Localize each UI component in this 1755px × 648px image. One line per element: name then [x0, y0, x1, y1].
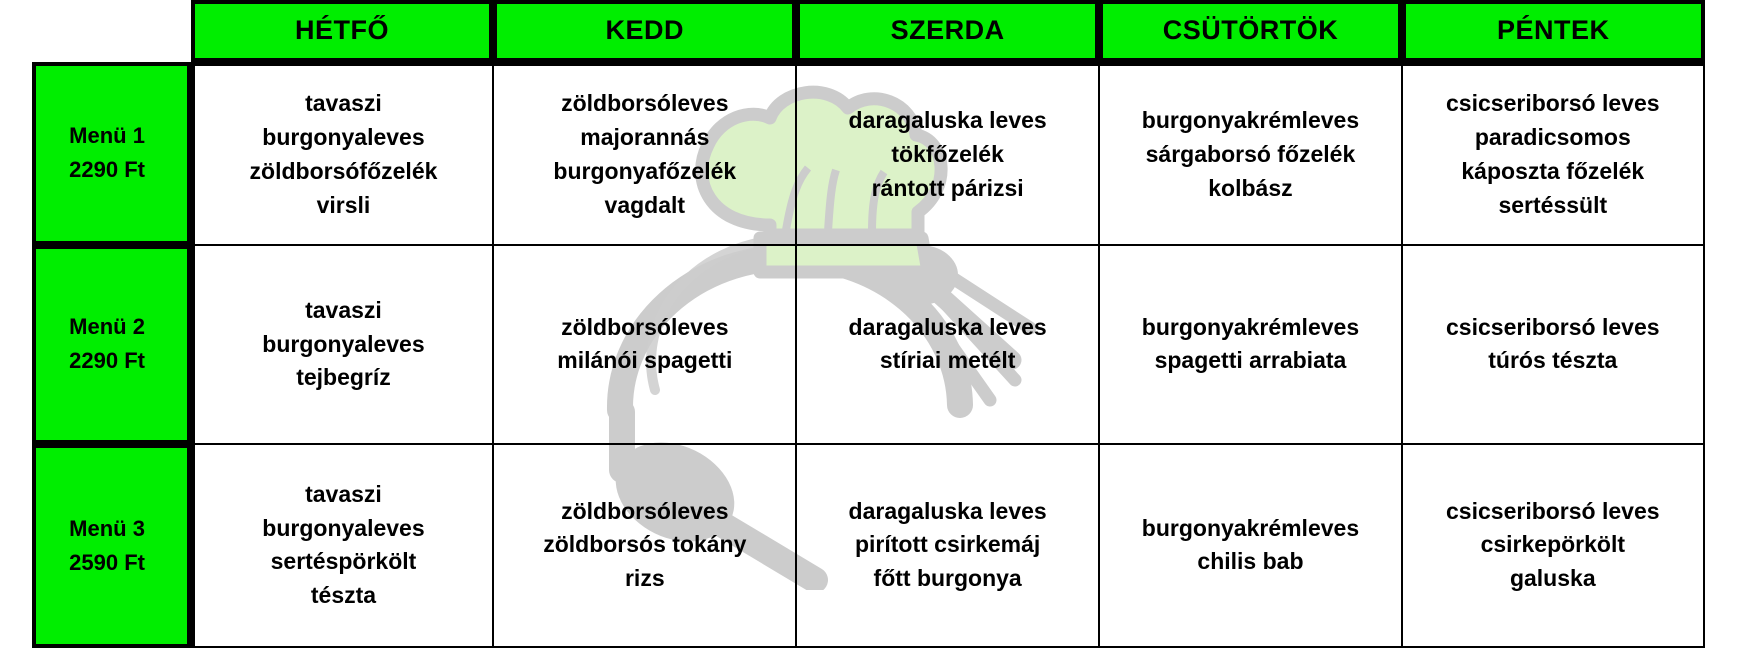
day-header-friday: PÉNTEK — [1402, 0, 1705, 62]
dish-line: tavaszi — [199, 294, 489, 328]
dish-cell-monday: tavasziburgonyalevessertéspörkölttészta — [191, 444, 494, 648]
dish-line: burgonyaleves — [199, 328, 489, 362]
row-right-spacer — [1705, 245, 1755, 444]
dish-line: tavaszi — [199, 478, 489, 512]
dish-line: sertéspörkölt — [199, 545, 489, 579]
dish-line: sertéssült — [1407, 189, 1699, 223]
dish-cell-monday: tavasziburgonyaleveszöldborsófőzelékvirs… — [191, 62, 494, 245]
dish-line: rántott párizsi — [801, 172, 1094, 206]
row-right-spacer — [1705, 444, 1755, 648]
dish-line: zöldborsóleves — [498, 311, 791, 345]
menu-price: 2290 Ft — [36, 344, 179, 378]
dish-line: rizs — [498, 562, 791, 596]
dish-line: zöldborsófőzelék — [199, 155, 489, 189]
menu-board: HÉTFŐKEDDSZERDACSÜTÖRTÖKPÉNTEKMenü 12290… — [0, 0, 1755, 648]
dish-line: zöldborsóleves — [498, 495, 791, 529]
dish-line: majorannás — [498, 121, 791, 155]
row-left-spacer — [0, 444, 32, 648]
day-header-monday: HÉTFŐ — [191, 0, 494, 62]
dish-cell-thursday: burgonyakrémlevessárgaborsó főzelékkolbá… — [1099, 62, 1402, 245]
dish-line: daragaluska leves — [801, 104, 1094, 138]
menu-name: Menü 2 — [36, 310, 179, 344]
dish-line: csirkepörkölt — [1407, 528, 1699, 562]
dish-line: csicseriborsó leves — [1407, 311, 1699, 345]
dish-cell-friday: csicseriborsó levestúrós tészta — [1402, 245, 1705, 444]
dish-cell-wednesday: daragaluska levesstíriai metélt — [796, 245, 1099, 444]
dish-line: tészta — [199, 579, 489, 613]
dish-line: spagetti arrabiata — [1104, 344, 1397, 378]
menu-name: Menü 1 — [36, 119, 179, 153]
dish-line: milánói spagetti — [498, 344, 791, 378]
menu-row: Menü 12290 Fttavasziburgonyaleveszöldbor… — [0, 62, 1755, 245]
day-header-wednesday: SZERDA — [796, 0, 1099, 62]
dish-line: chilis bab — [1104, 545, 1397, 579]
dish-line: túrós tészta — [1407, 344, 1699, 378]
dish-line: daragaluska leves — [801, 495, 1094, 529]
weekly-menu-table: HÉTFŐKEDDSZERDACSÜTÖRTÖKPÉNTEKMenü 12290… — [0, 0, 1755, 648]
menu-label-cell: Menü 32590 Ft — [32, 444, 191, 648]
dish-line: zöldborsóleves — [498, 87, 791, 121]
dish-cell-wednesday: daragaluska levestökfőzelékrántott páriz… — [796, 62, 1099, 245]
dish-line: tejbegríz — [199, 361, 489, 395]
dish-line: vagdalt — [498, 189, 791, 223]
dish-line: zöldborsós tokány — [498, 528, 791, 562]
dish-line: főtt burgonya — [801, 562, 1094, 596]
menu-table-body: HÉTFŐKEDDSZERDACSÜTÖRTÖKPÉNTEKMenü 12290… — [0, 0, 1755, 648]
dish-line: paradicsomos — [1407, 121, 1699, 155]
dish-line: virsli — [199, 189, 489, 223]
menu-label-cell: Menü 12290 Ft — [32, 62, 191, 245]
day-header-tuesday: KEDD — [493, 0, 796, 62]
menu-price: 2590 Ft — [36, 546, 179, 580]
row-left-spacer — [0, 245, 32, 444]
menu-price: 2290 Ft — [36, 153, 179, 187]
dish-cell-tuesday: zöldborsóleveszöldborsós tokányrizs — [493, 444, 796, 648]
dish-cell-wednesday: daragaluska levespirított csirkemájfőtt … — [796, 444, 1099, 648]
dish-line: pirított csirkemáj — [801, 528, 1094, 562]
corner-cell — [0, 0, 32, 62]
dish-cell-tuesday: zöldborsólevesmilánói spagetti — [493, 245, 796, 444]
dish-line: csicseriborsó leves — [1407, 495, 1699, 529]
dish-cell-thursday: burgonyakrémlevesspagetti arrabiata — [1099, 245, 1402, 444]
dish-line: csicseriborsó leves — [1407, 87, 1699, 121]
dish-cell-friday: csicseriborsó levescsirkepörköltgaluska — [1402, 444, 1705, 648]
dish-cell-monday: tavasziburgonyalevestejbegríz — [191, 245, 494, 444]
dish-line: daragaluska leves — [801, 311, 1094, 345]
row-right-spacer — [1705, 62, 1755, 245]
menu-row: Menü 32590 Fttavasziburgonyalevessertésp… — [0, 444, 1755, 648]
dish-line: burgonyakrémleves — [1104, 512, 1397, 546]
dish-line: tökfőzelék — [801, 138, 1094, 172]
dish-line: sárgaborsó főzelék — [1104, 138, 1397, 172]
dish-line: kolbász — [1104, 172, 1397, 206]
dish-line: burgonyaleves — [199, 512, 489, 546]
dish-line: burgonyakrémleves — [1104, 311, 1397, 345]
dish-line: burgonyaleves — [199, 121, 489, 155]
dish-line: burgonyafőzelék — [498, 155, 791, 189]
dish-cell-thursday: burgonyakrémleveschilis bab — [1099, 444, 1402, 648]
dish-cell-tuesday: zöldborsólevesmajorannásburgonyafőzelékv… — [493, 62, 796, 245]
dish-line: tavaszi — [199, 87, 489, 121]
day-header-thursday: CSÜTÖRTÖK — [1099, 0, 1402, 62]
corner-cell-blank — [32, 0, 191, 62]
menu-name: Menü 3 — [36, 512, 179, 546]
dish-cell-friday: csicseriborsó levesparadicsomoskáposzta … — [1402, 62, 1705, 245]
dish-line: stíriai metélt — [801, 344, 1094, 378]
dish-line: káposzta főzelék — [1407, 155, 1699, 189]
dish-line: galuska — [1407, 562, 1699, 596]
dish-line: burgonyakrémleves — [1104, 104, 1397, 138]
header-tail-spacer — [1705, 0, 1755, 62]
menu-label-cell: Menü 22290 Ft — [32, 245, 191, 444]
table-header-row: HÉTFŐKEDDSZERDACSÜTÖRTÖKPÉNTEK — [0, 0, 1755, 62]
menu-row: Menü 22290 Fttavasziburgonyalevestejbegr… — [0, 245, 1755, 444]
row-left-spacer — [0, 62, 32, 245]
